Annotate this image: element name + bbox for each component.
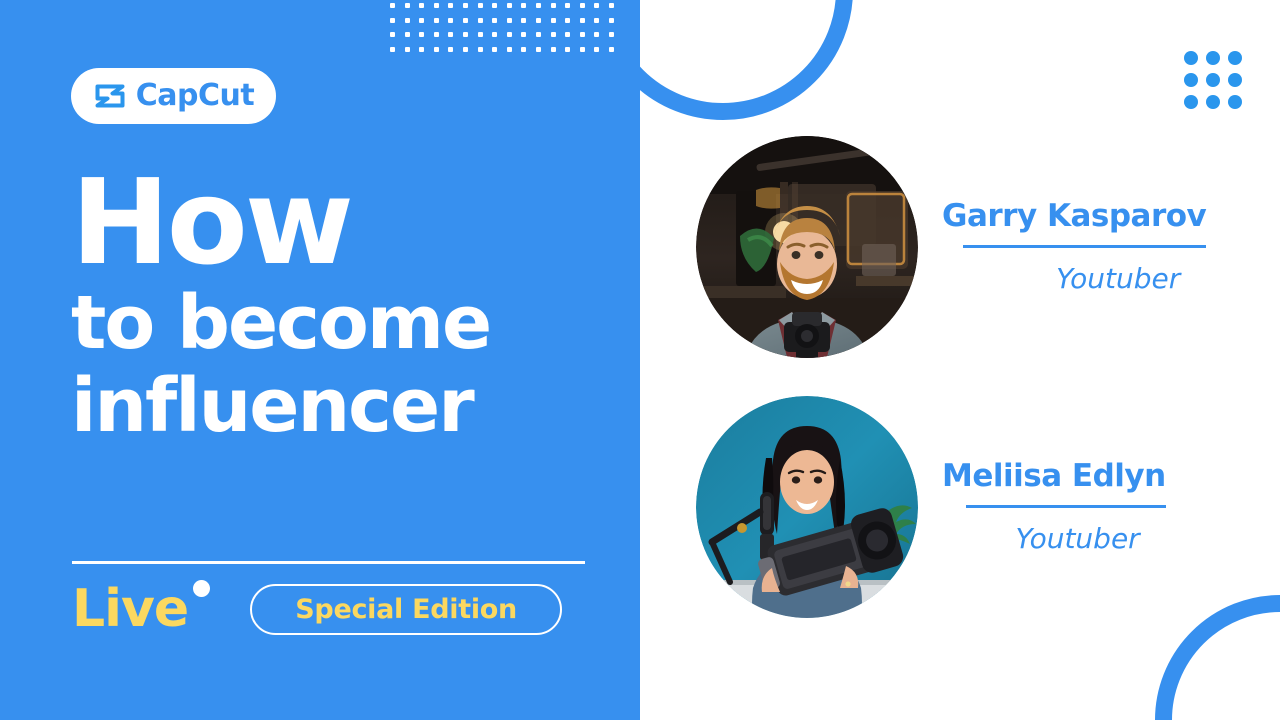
white-dot-grid-decoration [390, 3, 620, 59]
grid-dot [565, 47, 570, 52]
grid-dot [434, 18, 439, 23]
grid-dot [463, 32, 468, 37]
name-underline [966, 505, 1166, 508]
grid-dot [594, 32, 599, 37]
grid-dot [1206, 73, 1220, 87]
grid-dot [1184, 95, 1198, 109]
grid-dot [594, 18, 599, 23]
grid-dot [609, 47, 614, 52]
grid-dot [1206, 95, 1220, 109]
headline-separator [72, 561, 585, 564]
grid-dot [463, 18, 468, 23]
grid-dot [536, 18, 541, 23]
grid-dot [609, 32, 614, 37]
grid-dot [405, 32, 410, 37]
grid-dot [594, 3, 599, 8]
grid-dot [551, 32, 556, 37]
status-dot-icon [193, 580, 210, 597]
speaker-info: Garry Kasparov Youtuber [942, 199, 1206, 295]
avatar [696, 396, 918, 618]
grid-dot [478, 18, 483, 23]
grid-dot [609, 3, 614, 8]
grid-dot [492, 3, 497, 8]
grid-dot [536, 32, 541, 37]
speaker-card-2[interactable]: Meliisa Edlyn Youtuber [696, 396, 1166, 618]
grid-dot [507, 3, 512, 8]
poster-canvas: Garry Kasparov Youtuber [0, 0, 1280, 720]
headline-line-1: How [71, 168, 611, 278]
grid-dot [390, 3, 395, 8]
grid-dot [507, 32, 512, 37]
grid-dot [521, 3, 526, 8]
grid-dot [521, 32, 526, 37]
live-badge-row: Live Special Edition [72, 583, 562, 635]
grid-dot [419, 18, 424, 23]
grid-dot [1184, 51, 1198, 65]
grid-dot [492, 18, 497, 23]
grid-dot [390, 18, 395, 23]
grid-dot [521, 18, 526, 23]
grid-dot [1228, 73, 1242, 87]
grid-dot [565, 3, 570, 8]
capcut-wordmark: CapCut [136, 81, 254, 111]
grid-dot [1184, 73, 1198, 87]
grid-dot [405, 18, 410, 23]
capcut-logo[interactable]: CapCut [71, 68, 276, 124]
grid-dot [536, 3, 541, 8]
avatar [696, 136, 918, 358]
grid-dot [565, 18, 570, 23]
grid-dot [507, 47, 512, 52]
grid-dot [434, 47, 439, 52]
grid-dot [434, 3, 439, 8]
grid-dot [463, 47, 468, 52]
grid-dot [478, 47, 483, 52]
live-text: Live [72, 579, 188, 639]
speaker-role: Youtuber [1016, 524, 1140, 555]
grid-dot [478, 3, 483, 8]
speaker-info: Meliisa Edlyn Youtuber [942, 459, 1166, 555]
grid-dot [594, 47, 599, 52]
headline-line-2: to become [71, 282, 611, 365]
grid-dot [551, 18, 556, 23]
grid-dot [580, 32, 585, 37]
grid-dot [419, 32, 424, 37]
name-underline [963, 245, 1206, 248]
grid-dot [507, 18, 512, 23]
arc-bottom-right-decoration [1155, 595, 1280, 720]
headline-line-3: influencer [71, 365, 611, 448]
capcut-hourglass-icon [93, 82, 127, 110]
grid-dot [448, 47, 453, 52]
grid-dot [405, 3, 410, 8]
grid-dot [551, 47, 556, 52]
grid-dot [390, 32, 395, 37]
live-label: Live [72, 583, 188, 635]
grid-dot [419, 47, 424, 52]
grid-dot [1228, 95, 1242, 109]
grid-dot [419, 3, 424, 8]
grid-dot [521, 47, 526, 52]
special-edition-badge[interactable]: Special Edition [250, 584, 562, 635]
grid-dot [609, 18, 614, 23]
grid-dot [580, 3, 585, 8]
speaker-name: Meliisa Edlyn [942, 459, 1166, 493]
grid-dot [448, 18, 453, 23]
grid-dot [448, 3, 453, 8]
speaker-name: Garry Kasparov [942, 199, 1206, 233]
grid-dot [390, 47, 395, 52]
grid-dot [565, 32, 570, 37]
grid-dot [405, 47, 410, 52]
headline: How to become influencer [71, 168, 611, 447]
grid-dot [536, 47, 541, 52]
grid-dot [580, 47, 585, 52]
speaker-role: Youtuber [1056, 264, 1180, 295]
grid-dot [1206, 51, 1220, 65]
grid-dot [434, 32, 439, 37]
blue-dot-grid-decoration [1184, 51, 1250, 117]
grid-dot [492, 47, 497, 52]
grid-dot [463, 3, 468, 8]
grid-dot [448, 32, 453, 37]
grid-dot [551, 3, 556, 8]
speaker-card-1[interactable]: Garry Kasparov Youtuber [696, 136, 1206, 358]
grid-dot [580, 18, 585, 23]
grid-dot [1228, 51, 1242, 65]
grid-dot [492, 32, 497, 37]
grid-dot [478, 32, 483, 37]
